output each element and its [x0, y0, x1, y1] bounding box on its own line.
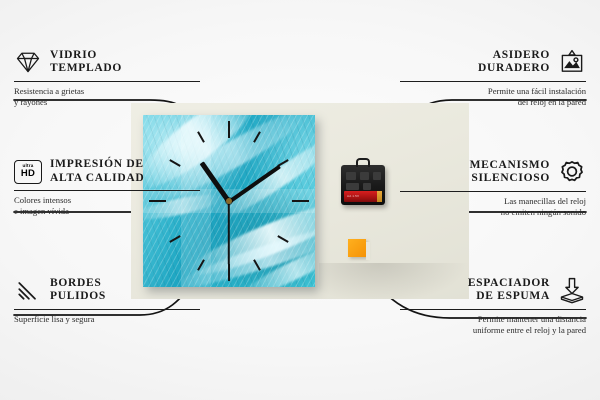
- feature-divider: [14, 190, 200, 191]
- feature-espaciador-de-espuma: ESPACIADOR DE ESPUMA Permite mantener un…: [400, 276, 586, 336]
- feature-subtitle-line1: Resistencia a grietas: [14, 86, 200, 97]
- battery-terminal: [377, 191, 382, 202]
- feature-asidero-duradero: ASIDERO DURADERO Permite una fácil insta…: [400, 48, 586, 108]
- feature-title: ASIDERO DURADERO: [478, 49, 550, 76]
- gear-icon: [558, 158, 586, 186]
- foam-spacer-side: [366, 242, 370, 260]
- feature-bordes-pulidos: BORDES PULIDOS Superficie lisa y segura: [14, 276, 200, 325]
- feature-divider: [400, 191, 586, 192]
- feature-subtitle-line1: Permite una fácil instalación: [400, 86, 586, 97]
- feature-subtitle-line1: Permite mantener una distancia: [400, 314, 586, 325]
- feature-header: ESPACIADOR DE ESPUMA: [400, 276, 586, 304]
- feature-header: ultra HD IMPRESIÓN DE ALTA CALIDAD: [14, 158, 200, 185]
- clock-mechanism: AA 1.5V: [341, 165, 385, 205]
- feature-subtitle-line1: Las manecillas del reloj: [400, 196, 586, 207]
- foam-spacer: [348, 239, 366, 257]
- feature-divider: [14, 81, 200, 82]
- wall-hanger-icon: [558, 48, 586, 76]
- feature-divider: [400, 81, 586, 82]
- mechanism-hook-icon: [356, 158, 370, 167]
- infographic-canvas: AA 1.5V VIDRIO TEMPLADO Resisten: [0, 0, 600, 400]
- clock-tick-3: [292, 200, 309, 202]
- feature-subtitle-line1: Superficie lisa y segura: [14, 314, 200, 325]
- clock-center-cap: [226, 198, 232, 204]
- feature-subtitle-line2: y rayones: [14, 97, 200, 108]
- feature-vidrio-templado: VIDRIO TEMPLADO Resistencia a grietas y …: [14, 48, 200, 108]
- feature-subtitle-line2: no emiten ningún sonido: [400, 207, 586, 218]
- ultra-hd-icon: ultra HD: [14, 160, 42, 184]
- polished-edges-icon: [14, 276, 42, 304]
- diamond-icon: [14, 48, 42, 76]
- feature-subtitle-line2: e imagen vívida: [14, 206, 200, 217]
- feature-divider: [400, 309, 586, 310]
- mechanism-slot: [363, 183, 371, 190]
- feature-header: VIDRIO TEMPLADO: [14, 48, 200, 76]
- battery: AA 1.5V: [344, 191, 382, 202]
- feature-title: ESPACIADOR DE ESPUMA: [468, 277, 550, 304]
- mechanism-slot: [346, 172, 356, 180]
- battery-label: AA 1.5V: [347, 194, 359, 198]
- feature-header: MECANISMO SILENCIOSO: [400, 158, 586, 186]
- feature-header: ASIDERO DURADERO: [400, 48, 586, 76]
- feature-divider: [14, 309, 200, 310]
- feature-title: IMPRESIÓN DE ALTA CALIDAD: [50, 158, 144, 185]
- feature-subtitle-line1: Colores intensos: [14, 195, 200, 206]
- mechanism-slot: [373, 172, 381, 180]
- clock-tick-6: [228, 264, 230, 281]
- feature-subtitle-line2: del reloj en la pared: [400, 97, 586, 108]
- mechanism-slot: [346, 183, 359, 190]
- hd-icon-big-text: HD: [21, 169, 35, 179]
- feature-subtitle-line2: uniforme entre el reloj y la pared: [400, 325, 586, 336]
- foam-spacer-icon: [558, 276, 586, 304]
- feature-impresion-alta-calidad: ultra HD IMPRESIÓN DE ALTA CALIDAD Color…: [14, 158, 200, 217]
- feature-header: BORDES PULIDOS: [14, 276, 200, 304]
- clock-second-hand: [228, 201, 230, 264]
- feature-title: BORDES PULIDOS: [50, 277, 106, 304]
- feature-title: VIDRIO TEMPLADO: [50, 49, 122, 76]
- clock-tick-12: [228, 121, 230, 138]
- mechanism-slot: [360, 172, 369, 180]
- feature-mecanismo-silencioso: MECANISMO SILENCIOSO Las manecillas del …: [400, 158, 586, 218]
- feature-title: MECANISMO SILENCIOSO: [470, 159, 550, 186]
